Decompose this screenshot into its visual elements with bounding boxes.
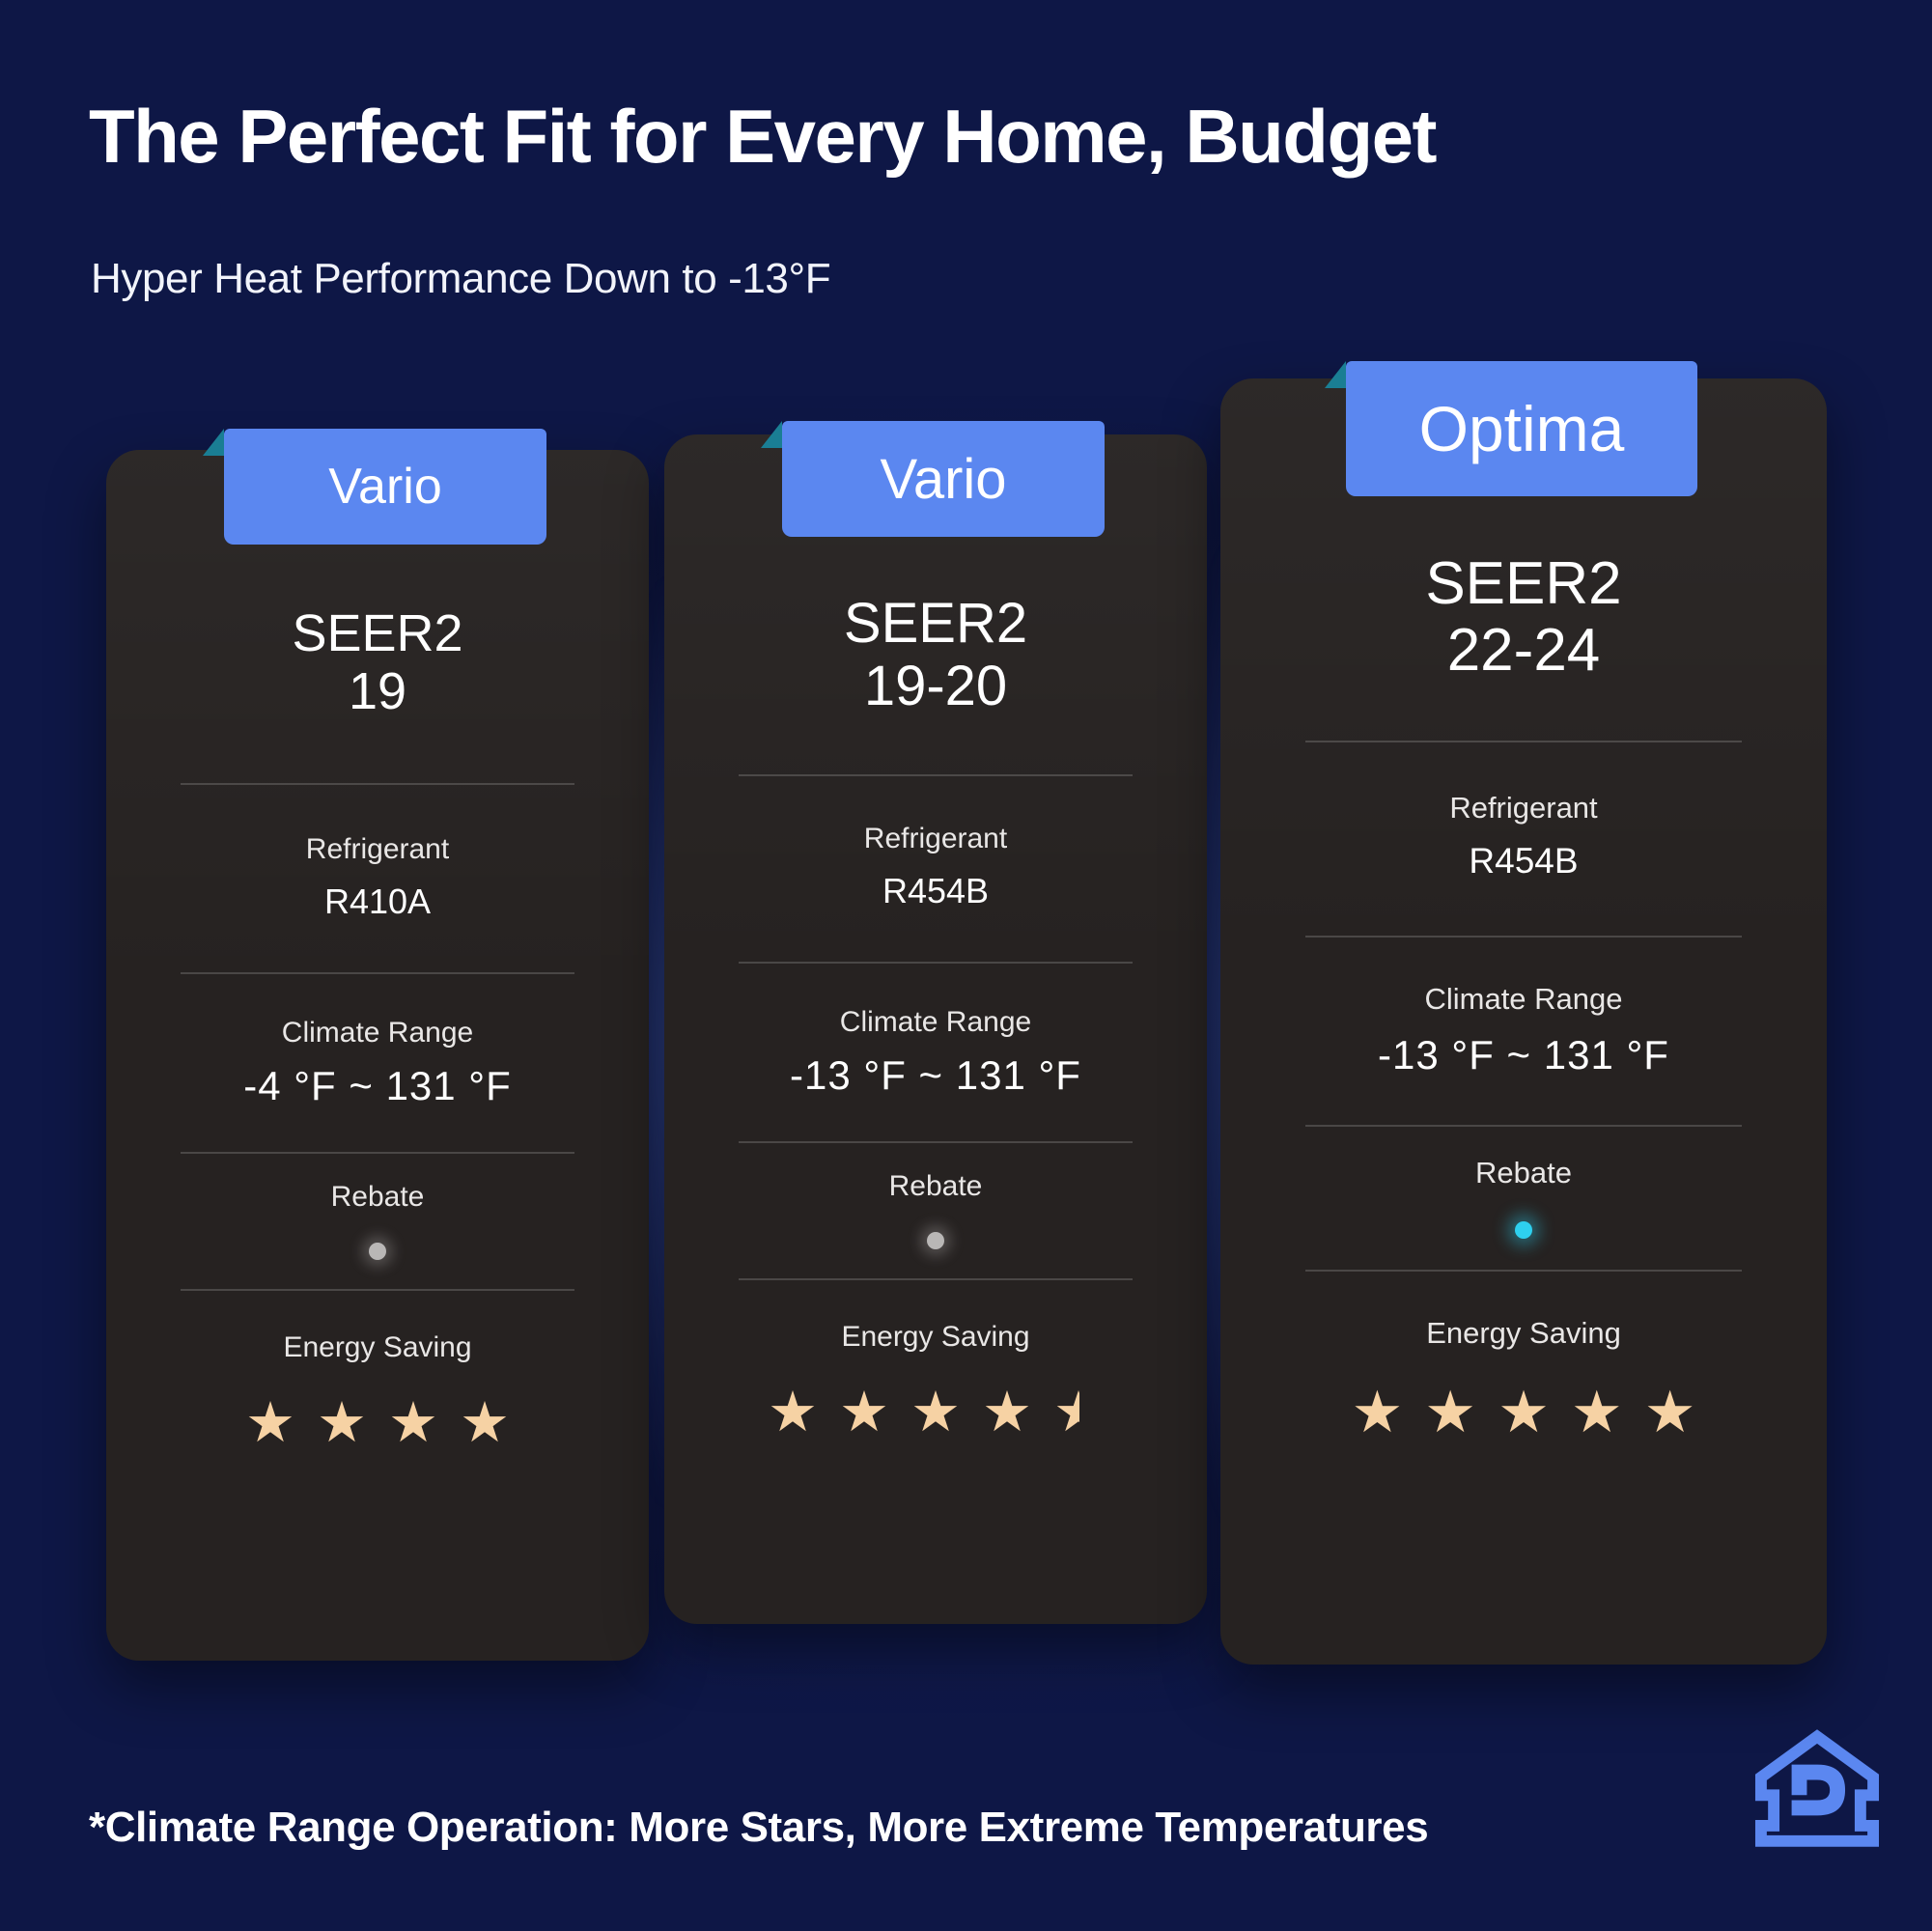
seer-title: SEER2 [292, 604, 462, 662]
star-icon: ★ [317, 1395, 367, 1451]
star-icon: ★ [982, 1385, 1032, 1441]
spec-value: -4 °F ~ 131 °F [243, 1063, 512, 1109]
product-ribbon-vario-1[interactable]: Vario [224, 429, 546, 545]
spec-climate-range: Climate Range -13 °F ~ 131 °F [664, 1006, 1207, 1099]
star-icon: ★ [1352, 1384, 1404, 1441]
seer-value: 22-24 [1425, 617, 1621, 684]
ribbon-fold-icon [1325, 361, 1346, 388]
divider [1305, 741, 1742, 742]
spec-value: -13 °F ~ 131 °F [790, 1052, 1081, 1099]
star-icon: ★ [1571, 1384, 1623, 1441]
house-logo-icon [1753, 1726, 1881, 1854]
spec-label: Rebate [331, 1181, 425, 1214]
star-icon: ★ [388, 1395, 438, 1451]
star-rating: ★★★★★ [1352, 1384, 1696, 1441]
divider [181, 1289, 574, 1291]
ribbon-fold-icon [203, 429, 224, 456]
spec-refrigerant: Refrigerant R410A [106, 833, 649, 922]
ribbon-fold-icon [761, 421, 782, 448]
seer-block: SEER2 22-24 [1425, 550, 1621, 685]
rebate-indicator-dot [1515, 1221, 1532, 1239]
spec-label: Rebate [1475, 1156, 1572, 1190]
ribbon-label: Optima [1419, 392, 1625, 465]
spec-label: Rebate [889, 1170, 983, 1203]
spec-energy-saving: Energy Saving ★★★★ [106, 1331, 649, 1451]
spec-label: Climate Range [840, 1006, 1031, 1039]
divider [739, 774, 1133, 776]
spec-value: -13 °F ~ 131 °F [1378, 1032, 1669, 1078]
spec-label: Climate Range [282, 1017, 473, 1049]
seer-value: 19 [292, 662, 462, 720]
star-icon: ★ [910, 1385, 961, 1441]
star-icon: ★ [1424, 1384, 1476, 1441]
product-ribbon-vario-2[interactable]: Vario [782, 421, 1105, 537]
seer-value: 19-20 [844, 656, 1027, 718]
spec-label: Energy Saving [841, 1321, 1029, 1354]
star-half-icon: ★ [1053, 1385, 1104, 1441]
divider [1305, 936, 1742, 938]
product-card-vario-19-20[interactable]: SEER2 19-20 Refrigerant R454B Climate Ra… [664, 434, 1207, 1624]
divider [1305, 1125, 1742, 1127]
spec-value: R454B [882, 871, 989, 911]
spec-energy-saving: Energy Saving ★★★★★ [1220, 1316, 1827, 1441]
spec-energy-saving: Energy Saving ★★★★★ [664, 1321, 1207, 1441]
seer-title: SEER2 [844, 593, 1027, 656]
divider [181, 972, 574, 974]
seer-title: SEER2 [1425, 550, 1621, 617]
divider [739, 1141, 1133, 1143]
spec-label: Energy Saving [1426, 1316, 1621, 1351]
footnote: *Climate Range Operation: More Stars, Mo… [89, 1804, 1428, 1852]
star-icon: ★ [839, 1385, 889, 1441]
spec-label: Refrigerant [864, 823, 1007, 855]
spec-refrigerant: Refrigerant R454B [664, 823, 1207, 911]
spec-rebate: Rebate [106, 1181, 649, 1260]
spec-rebate: Rebate [664, 1170, 1207, 1249]
infographic-root: The Perfect Fit for Every Home, Budget H… [0, 0, 1932, 1931]
product-card-optima[interactable]: SEER2 22-24 Refrigerant R454B Climate Ra… [1220, 378, 1827, 1665]
seer-block: SEER2 19 [292, 604, 462, 721]
star-icon: ★ [1644, 1384, 1696, 1441]
product-card-vario-19[interactable]: SEER2 19 Refrigerant R410A Climate Range… [106, 450, 649, 1661]
ribbon-label: Vario [328, 458, 442, 516]
spec-label: Climate Range [1424, 982, 1622, 1017]
star-rating: ★★★★ [245, 1395, 510, 1451]
spec-value: R410A [324, 882, 431, 922]
spec-label: Refrigerant [1449, 791, 1597, 826]
page-title: The Perfect Fit for Every Home, Budget [89, 93, 1436, 181]
product-ribbon-optima[interactable]: Optima [1346, 361, 1697, 496]
spec-climate-range: Climate Range -4 °F ~ 131 °F [106, 1017, 649, 1109]
star-rating: ★★★★★ [768, 1385, 1104, 1441]
spec-climate-range: Climate Range -13 °F ~ 131 °F [1220, 982, 1827, 1078]
spec-value: R454B [1469, 841, 1578, 882]
divider [739, 962, 1133, 964]
divider [1305, 1270, 1742, 1272]
star-icon: ★ [1498, 1384, 1550, 1441]
spec-refrigerant: Refrigerant R454B [1220, 791, 1827, 882]
divider [181, 1152, 574, 1154]
star-icon: ★ [768, 1385, 818, 1441]
spec-rebate: Rebate [1220, 1156, 1827, 1239]
page-subtitle: Hyper Heat Performance Down to -13°F [91, 255, 830, 303]
rebate-indicator-dot [369, 1243, 386, 1260]
ribbon-label: Vario [880, 447, 1006, 512]
divider [739, 1278, 1133, 1280]
spec-label: Refrigerant [306, 833, 449, 866]
seer-block: SEER2 19-20 [844, 593, 1027, 718]
spec-label: Energy Saving [283, 1331, 471, 1364]
rebate-indicator-dot [927, 1232, 944, 1249]
star-icon: ★ [245, 1395, 295, 1451]
divider [181, 783, 574, 785]
star-icon: ★ [460, 1395, 510, 1451]
